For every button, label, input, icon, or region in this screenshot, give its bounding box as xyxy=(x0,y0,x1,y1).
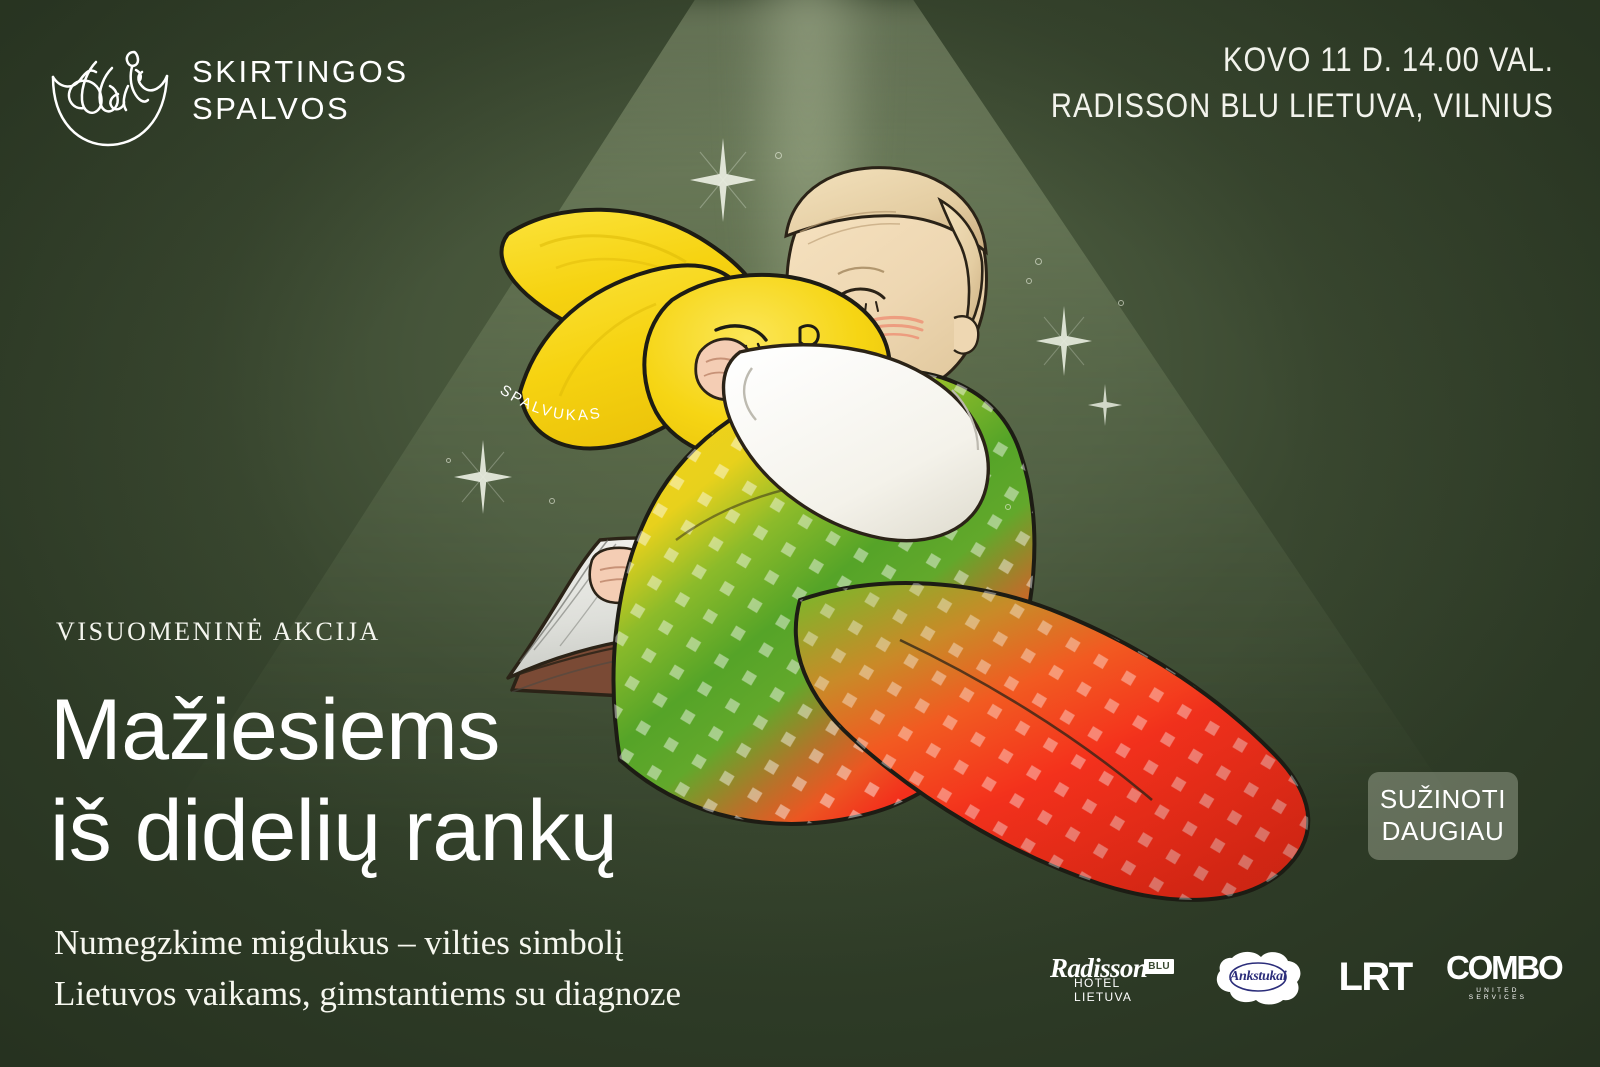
headline-line2: iš didelių rankų xyxy=(50,781,617,882)
ankstukai-wordmark: Ankstukai xyxy=(1212,969,1304,985)
brand-name-line1: SKIRTINGOS xyxy=(192,54,409,91)
poster-canvas: SPALVUKAS xyxy=(0,0,1600,1067)
combo-wordmark: COMBO xyxy=(1446,951,1550,984)
cta-line2: DAUGIAU xyxy=(1378,815,1508,847)
event-details: KOVO 11 D. 14.00 VAL. RADISSON BLU LIETU… xyxy=(1051,38,1554,129)
light-beam-core xyxy=(736,0,880,555)
sponsor-radisson-blu[interactable]: Radisson BLU HOTEL LIETUVA xyxy=(1050,949,1178,1005)
radisson-subtitle: HOTEL LIETUVA xyxy=(1074,976,1178,1004)
subcopy-line2: Lietuvos vaikams, gimstantiems su diagno… xyxy=(54,969,681,1020)
subcopy-line1: Numegzkime migdukus – vilties simbolį xyxy=(54,918,681,969)
event-venue: RADISSON BLU LIETUVA, VILNIUS xyxy=(1051,84,1554,130)
page-title: Mažiesiems iš didelių rankų xyxy=(50,680,617,883)
campaign-description: Numegzkime migdukus – vilties simbolį Li… xyxy=(54,918,681,1020)
umbrella-script-logo-icon xyxy=(46,32,174,150)
brand-lockup[interactable]: SKIRTINGOS SPALVOS xyxy=(46,32,409,150)
lrt-wordmark: LRT xyxy=(1338,957,1411,997)
learn-more-button[interactable]: SUŽINOTI DAUGIAU xyxy=(1368,772,1518,860)
radisson-blu-badge: BLU xyxy=(1144,959,1174,974)
brand-name: SKIRTINGOS SPALVOS xyxy=(192,54,409,127)
event-date-time: KOVO 11 D. 14.00 VAL. xyxy=(1051,38,1554,84)
combo-subtitle: UNITED SERVICES xyxy=(1446,987,1550,1001)
sponsor-ankstukai[interactable]: Ankstukai xyxy=(1212,948,1304,1006)
campaign-kicker: VISUOMENINĖ AKCIJA xyxy=(56,617,381,647)
sponsor-combo[interactable]: COMBO UNITED SERVICES xyxy=(1446,951,1550,1003)
cta-line1: SUŽINOTI xyxy=(1378,783,1508,815)
sponsor-logo-row: Radisson BLU HOTEL LIETUVA Ankstukai LRT… xyxy=(1050,946,1550,1008)
brand-name-line2: SPALVOS xyxy=(192,91,409,128)
headline-line1: Mažiesiems xyxy=(50,680,617,781)
sponsor-lrt[interactable]: LRT xyxy=(1338,957,1411,997)
